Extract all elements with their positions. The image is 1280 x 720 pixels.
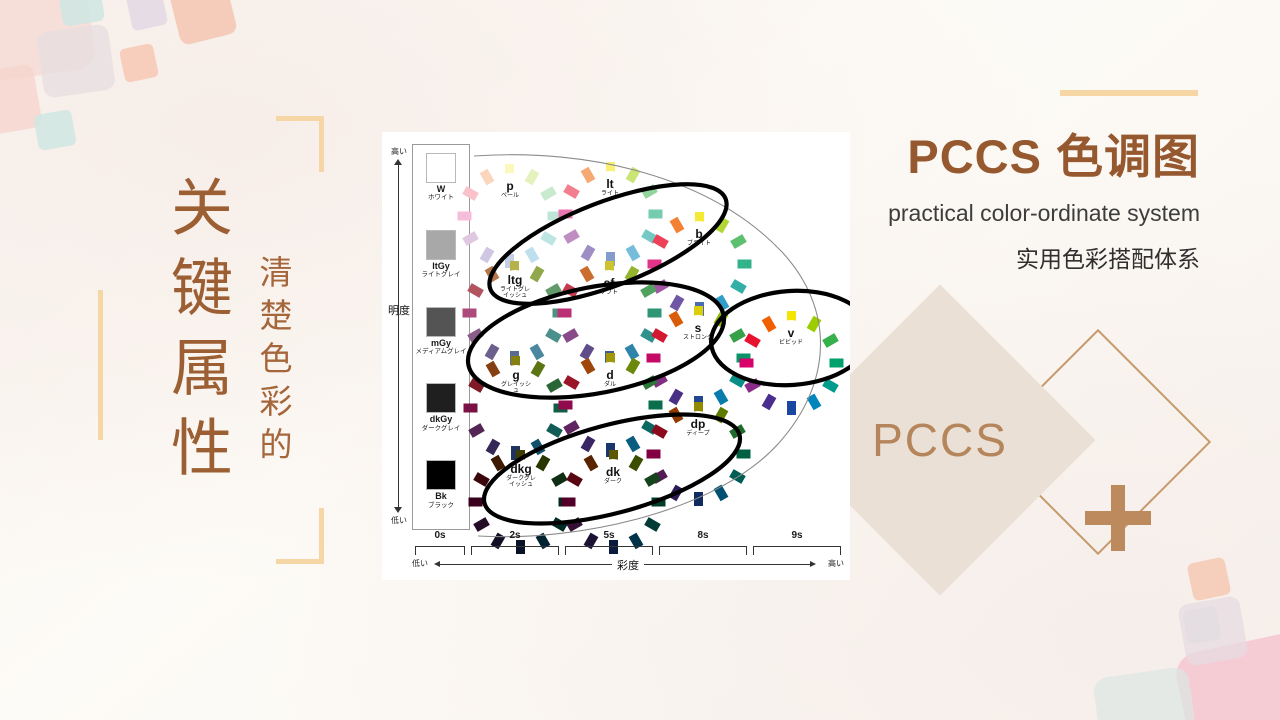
- tone-hub: pペール: [493, 173, 527, 207]
- tone-kana-label: ライト: [601, 191, 619, 197]
- lightness-high-label: 高い: [384, 146, 414, 157]
- tone-hub: dダル: [593, 362, 627, 396]
- tone-segment: [563, 375, 580, 390]
- tone-segment: [563, 420, 580, 435]
- headline-sub: 清楚色彩的: [248, 255, 296, 470]
- lightness-axis-line: [398, 164, 399, 508]
- gray-swatch-dkgy: dkGyダークグレイ: [413, 383, 469, 432]
- saturation-tick-5s: 5s: [562, 530, 656, 541]
- headline-main: 关键属性: [150, 175, 240, 495]
- saturation-brace: [753, 546, 841, 555]
- tone-segment: [744, 378, 761, 393]
- lightness-low-label: 低い: [384, 515, 414, 526]
- tone-segment: [558, 401, 572, 410]
- tone-wheel-d: dダル: [568, 337, 652, 421]
- bracket-bottom: [276, 508, 324, 564]
- tone-segment: [566, 472, 583, 487]
- gray-swatch-ltgy: ltGyライトグレイ: [413, 230, 469, 279]
- tone-segment: [651, 498, 665, 507]
- gray-swatch-w: Wホワイト: [413, 153, 469, 202]
- tone-kana-label: ブライト: [687, 241, 711, 247]
- pccs-badge-label: PCCS: [830, 330, 1050, 550]
- tone-wheel-s: sストロング: [656, 290, 740, 374]
- gray-chip: [426, 460, 456, 490]
- pastel-square-2: [57, 0, 106, 27]
- tone-segment: [668, 485, 683, 502]
- tone-segment: [463, 308, 477, 317]
- tone-segment: [486, 361, 501, 378]
- tone-code-label: b: [695, 228, 702, 240]
- grayscale-column: WホワイトltGyライトグレイmGyメディアムグレイdkGyダークグレイBkブラ…: [412, 144, 470, 530]
- tone-wheel-g: gグレイッシュ: [476, 342, 556, 422]
- tone-segment: [580, 167, 595, 184]
- pastel-square-6: [119, 43, 159, 83]
- gray-kana-label: ライトグレイ: [413, 271, 469, 278]
- tone-kana-label: ダークグレイッシュ: [504, 476, 538, 489]
- tone-kana-label: ライトグレイッシュ: [498, 287, 532, 300]
- tone-kana-label: ディープ: [686, 431, 709, 437]
- tone-segment: [736, 450, 750, 459]
- saturation-arrow-right: [810, 561, 816, 567]
- gray-chip: [426, 307, 456, 337]
- gray-code-label: dkGy: [413, 415, 469, 424]
- tone-wheel-sf: sfソフト: [567, 245, 651, 329]
- tone-segment: [546, 283, 563, 298]
- tone-segment: [694, 492, 703, 506]
- tone-segment: [530, 266, 545, 283]
- tone-segment: [829, 359, 843, 368]
- saturation-tick-0s: 0s: [412, 530, 468, 541]
- saturation-tick-9s: 9s: [750, 530, 844, 541]
- saturation-brace: [659, 546, 747, 555]
- tone-segment: [730, 234, 747, 249]
- tone-code-label: dk: [606, 466, 620, 478]
- tone-segment: [668, 311, 683, 328]
- tone-segment: [536, 455, 551, 472]
- tone-wheel-dkg: dkgダークグレイッシュ: [481, 436, 561, 516]
- pastel-square-5: [36, 23, 116, 98]
- tone-segment: [583, 455, 598, 472]
- tone-segment: [563, 184, 580, 199]
- tone-segment: [547, 378, 564, 393]
- gray-code-label: Bk: [413, 492, 469, 501]
- tone-segment: [561, 498, 575, 507]
- tone-wheel-dk: dkダーク: [571, 434, 655, 518]
- tone-segment: [761, 394, 776, 411]
- tone-code-label: dkg: [510, 463, 531, 475]
- tone-segment: [625, 358, 640, 375]
- bracket-top: [276, 116, 324, 172]
- pccs-tone-chart: 高い 低い 明度 WホワイトltGyライトグレイmGyメディアムグレイdkGyダ…: [382, 132, 850, 580]
- gray-chip: [426, 153, 456, 183]
- tone-segment: [469, 378, 486, 393]
- pastel-square-13: [1092, 666, 1200, 720]
- gray-swatch-mgy: mGyメディアムグレイ: [413, 307, 469, 356]
- tone-segment: [641, 184, 658, 199]
- saturation-low-label: 低い: [412, 558, 428, 569]
- left-vertical-accent: [98, 290, 103, 440]
- gray-chip: [426, 383, 456, 413]
- tone-kana-label: グレイッシュ: [499, 382, 533, 395]
- tone-code-label: s: [695, 322, 702, 334]
- gray-chip: [426, 230, 456, 260]
- tone-hub: ltgライトグレイッシュ: [498, 270, 532, 304]
- tone-kana-label: ダーク: [604, 479, 622, 485]
- saturation-axis-title: 彩度: [612, 557, 644, 573]
- saturation-brace: [415, 546, 465, 555]
- gray-kana-label: ホワイト: [413, 194, 469, 201]
- tone-segment: [557, 309, 571, 318]
- tone-segment: [562, 283, 579, 298]
- saturation-high-label: 高い: [828, 558, 844, 569]
- gray-kana-label: ブラック: [413, 502, 469, 509]
- tone-segment: [644, 472, 661, 487]
- plus-icon: [1085, 485, 1151, 551]
- lightness-axis: 高い 低い 明度: [386, 146, 412, 526]
- tone-segment: [713, 485, 728, 502]
- tone-segment: [480, 169, 495, 186]
- tone-segment: [668, 407, 683, 424]
- tone-wheel-ltg: ltgライトグレイッシュ: [475, 247, 555, 327]
- tone-kana-label: ソフト: [600, 290, 618, 296]
- tone-segment: [485, 266, 500, 283]
- tone-hub: dkダーク: [596, 459, 630, 493]
- tone-segment: [531, 361, 546, 378]
- tone-segment: [729, 469, 746, 484]
- subtitle-chinese: 实用色彩搭配体系: [1016, 240, 1200, 274]
- gray-code-label: mGy: [413, 339, 469, 348]
- tone-code-label: ltg: [508, 274, 523, 286]
- tone-wheel-b: bブライト: [657, 196, 741, 280]
- lightness-arrow-down: [394, 507, 402, 513]
- tone-segment: [464, 403, 478, 412]
- pastel-square-12: [1177, 595, 1249, 667]
- tone-segment: [468, 283, 485, 298]
- saturation-brace: [565, 546, 653, 555]
- gray-kana-label: メディアムグレイ: [413, 348, 469, 355]
- tone-segment: [787, 401, 796, 415]
- tone-segment: [761, 316, 776, 333]
- tone-segment: [541, 231, 558, 246]
- tone-wheel-v: vビビッド: [749, 295, 833, 379]
- tone-segment: [744, 333, 761, 348]
- tone-code-label: dp: [691, 418, 706, 430]
- tone-segment: [625, 167, 640, 184]
- tone-segment: [474, 472, 491, 487]
- tone-hub: bブライト: [682, 221, 716, 255]
- tone-hub: dpディープ: [681, 411, 715, 445]
- tone-segment: [729, 328, 746, 343]
- pastel-square-4: [168, 0, 238, 46]
- pastel-square-9: [1186, 556, 1231, 601]
- tone-hub: sストロング: [681, 315, 715, 349]
- saturation-arrow-left: [434, 561, 440, 567]
- tone-segment: [468, 328, 485, 343]
- page-title: PCCS 色调图: [907, 118, 1200, 187]
- tone-segment: [640, 283, 657, 298]
- tone-segment: [806, 394, 821, 411]
- pastel-square-8: [33, 109, 77, 151]
- tone-segment: [458, 211, 472, 220]
- tone-hub: ltライト: [593, 171, 627, 205]
- tone-segment: [737, 260, 751, 269]
- tone-code-label: v: [788, 327, 795, 339]
- tone-hub: dkgダークグレイッシュ: [504, 459, 538, 493]
- tone-segment: [628, 455, 643, 472]
- tone-segment: [822, 333, 839, 348]
- tone-segment: [713, 407, 728, 424]
- title-accent-bar: [1060, 90, 1198, 96]
- tone-segment: [491, 455, 506, 472]
- tone-kana-label: ビビッド: [779, 340, 803, 346]
- lightness-axis-title: 明度: [385, 306, 413, 318]
- tone-code-label: p: [506, 180, 513, 192]
- tone-segment: [624, 266, 639, 283]
- tone-segment: [579, 266, 594, 283]
- tone-segment: [525, 169, 540, 186]
- tone-segment: [652, 234, 669, 249]
- tone-segment: [558, 210, 572, 219]
- tone-wheel-p: pペール: [470, 150, 550, 230]
- gray-swatch-bk: Bkブラック: [413, 460, 469, 509]
- tone-segment: [822, 378, 839, 393]
- gray-kana-label: ダークグレイ: [413, 425, 469, 432]
- tone-segment: [541, 186, 558, 201]
- tone-wheel-dp: dpディープ: [656, 386, 740, 470]
- subtitle-english: practical color-ordinate system: [888, 200, 1200, 227]
- saturation-tick-2s: 2s: [468, 530, 562, 541]
- tone-code-label: d: [606, 369, 613, 381]
- tone-segment: [546, 328, 563, 343]
- tone-kana-label: ダル: [604, 382, 616, 388]
- saturation-tick-8s: 8s: [656, 530, 750, 541]
- pastel-square-3: [126, 0, 169, 31]
- saturation-brace: [471, 546, 559, 555]
- saturation-axis: 0s2s5s8s9s 彩度 低い 高い: [412, 530, 844, 574]
- gray-code-label: ltGy: [413, 262, 469, 271]
- tone-segment: [714, 217, 729, 234]
- tone-segment: [713, 311, 728, 328]
- tone-code-label: lt: [606, 178, 613, 190]
- tone-kana-label: ストロング: [683, 335, 713, 341]
- tone-segment: [729, 424, 746, 439]
- tone-kana-label: ペール: [501, 193, 519, 199]
- tone-segment: [469, 497, 483, 506]
- tone-segment: [563, 229, 580, 244]
- tone-code-label: sf: [604, 277, 615, 289]
- tone-code-label: g: [512, 369, 519, 381]
- tone-segment: [580, 358, 595, 375]
- tone-hub: gグレイッシュ: [499, 365, 533, 399]
- tone-segment: [806, 316, 821, 333]
- tone-hub: sfソフト: [592, 270, 626, 304]
- slide-canvas: 关键属性 清楚色彩的 PCCS 色调图 practical color-ordi…: [0, 0, 1280, 720]
- tone-hub: vビビッド: [774, 320, 808, 354]
- tone-segment: [739, 359, 753, 368]
- tone-segment: [669, 217, 684, 234]
- tone-wheel-lt: ltライト: [568, 146, 652, 230]
